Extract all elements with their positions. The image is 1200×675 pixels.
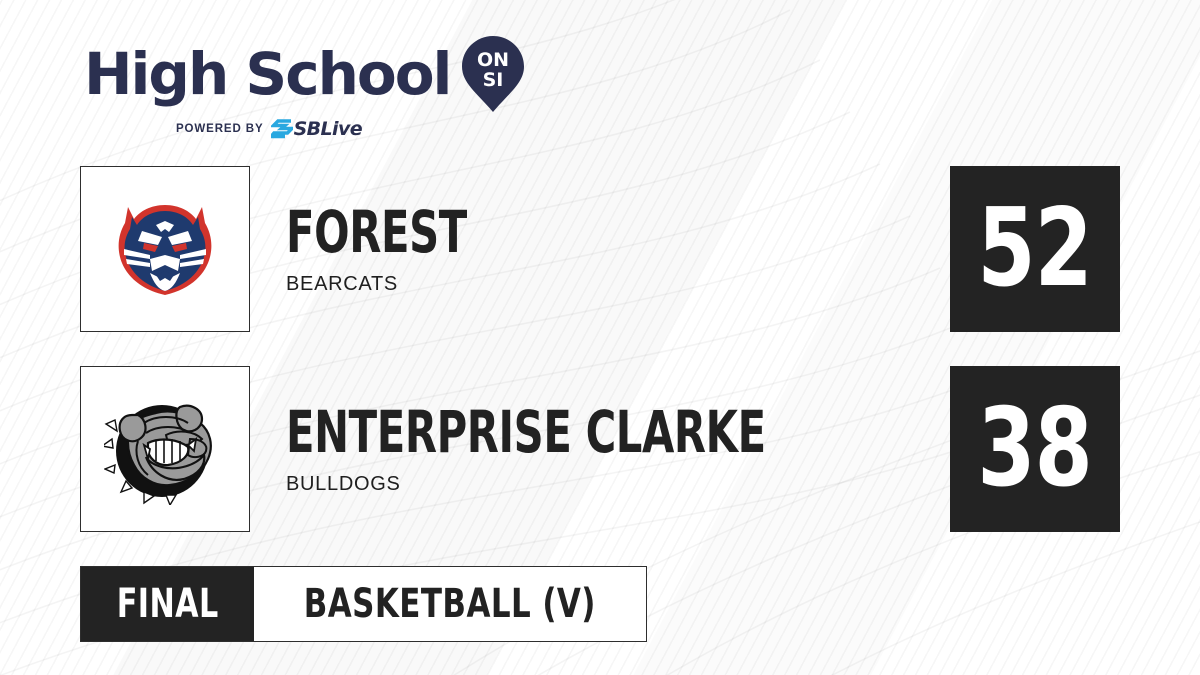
brand-logo-main: High School ON SI	[84, 36, 524, 112]
team-score: 38	[978, 395, 1093, 503]
team-logo-frame	[80, 366, 250, 532]
bearcat-head-logo-icon	[106, 199, 224, 299]
brand-wordmark: High School	[84, 45, 450, 103]
sblive-s-icon	[271, 119, 293, 139]
team-text-block: ENTERPRISE CLARKE BULLDOGS	[286, 366, 886, 532]
game-status-badge: FINAL	[81, 567, 254, 641]
team-row: ENTERPRISE CLARKE BULLDOGS 38	[80, 366, 1120, 532]
team-score: 52	[978, 195, 1093, 303]
game-sport-label: BASKETBALL (V)	[254, 567, 646, 641]
on-si-pin-icon: ON SI	[462, 36, 524, 112]
team-mascot: BULLDOGS	[286, 473, 886, 496]
team-name: ENTERPRISE CLARKE	[286, 403, 766, 461]
bulldog-head-logo-icon	[104, 393, 226, 505]
team-row: FOREST BEARCATS 52	[80, 166, 1120, 332]
team-score-box: 38	[950, 366, 1120, 532]
powered-by-label: POWERED BY	[176, 123, 264, 135]
team-score-box: 52	[950, 166, 1120, 332]
sblive-wordmark: SBLive	[294, 118, 362, 140]
scoreboard-graphic: High School ON SI POWERED BY SBLive	[0, 0, 1200, 675]
powered-by-row: POWERED BY SBLive	[84, 118, 454, 140]
sblive-logo: SBLive	[271, 118, 362, 140]
team-mascot: BEARCATS	[286, 273, 512, 296]
pin-badge-line2: SI	[483, 69, 504, 91]
team-text-block: FOREST BEARCATS	[286, 166, 512, 332]
game-sport-text: BASKETBALL (V)	[304, 581, 596, 627]
game-status-text: FINAL	[117, 581, 219, 627]
team-logo-frame	[80, 166, 250, 332]
game-status-bar: FINAL BASKETBALL (V)	[80, 566, 647, 642]
team-name: FOREST	[286, 203, 467, 261]
pin-badge-line1: ON	[477, 49, 509, 71]
brand-logo: High School ON SI POWERED BY SBLive	[84, 36, 524, 140]
